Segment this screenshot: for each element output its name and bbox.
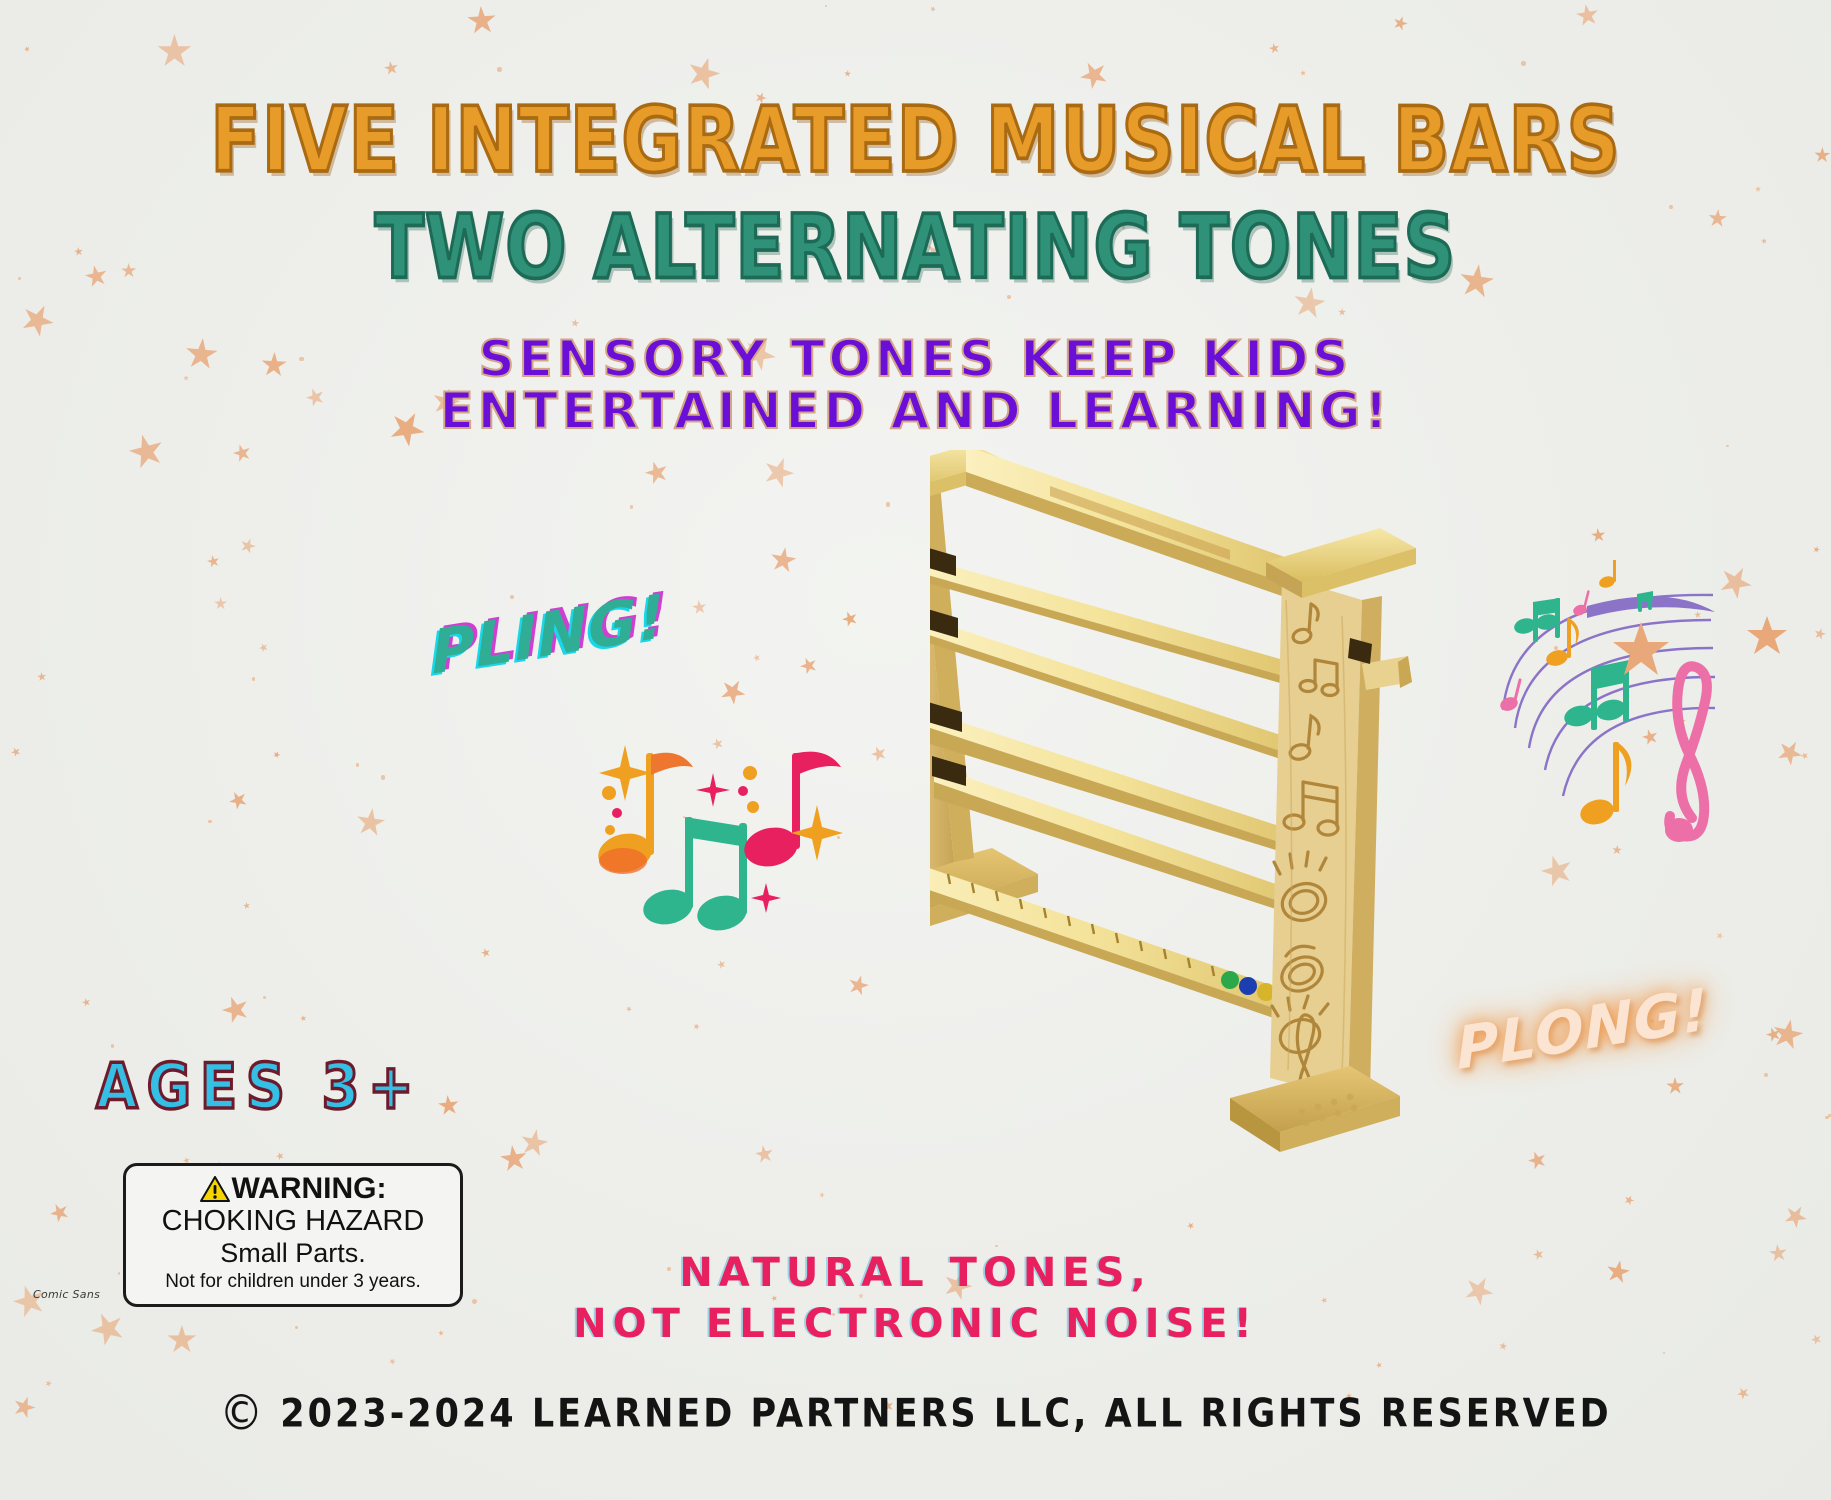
decorative-star-dot xyxy=(1825,1116,1828,1119)
decorative-star xyxy=(275,1151,285,1161)
left-post xyxy=(930,478,974,874)
decorative-star xyxy=(839,609,859,629)
decorative-star xyxy=(1779,1200,1811,1232)
decorative-star xyxy=(759,452,799,492)
decorative-star-dot xyxy=(510,595,514,599)
decorative-star-dot xyxy=(1521,61,1525,65)
decorative-star xyxy=(625,1005,633,1013)
choking-hazard-warning-label: WARNING: CHOKING HAZARD Small Parts. Not… xyxy=(123,1163,463,1307)
decorative-star-dot xyxy=(1726,445,1728,447)
decorative-star xyxy=(692,1022,701,1031)
decorative-star xyxy=(383,60,400,77)
decorative-star xyxy=(752,652,762,662)
decorative-star-dot xyxy=(208,820,212,824)
decorative-star xyxy=(1813,546,1822,555)
decorative-star xyxy=(24,45,32,53)
decorative-star-dot xyxy=(497,67,502,72)
decorative-star xyxy=(242,902,250,910)
warning-hazard-text: CHOKING HAZARD xyxy=(136,1205,450,1238)
decorative-star xyxy=(1375,1361,1383,1369)
decorative-star-dot xyxy=(886,502,891,507)
decorative-star xyxy=(1574,2,1600,28)
decorative-star xyxy=(1526,1149,1550,1173)
decorative-star xyxy=(354,806,387,839)
decorative-star xyxy=(44,1379,53,1388)
decorative-star-dot xyxy=(1764,1073,1768,1077)
decorative-star-dot xyxy=(825,5,827,7)
decorative-star xyxy=(206,554,221,569)
decorative-star xyxy=(1769,1016,1806,1053)
decorative-star xyxy=(570,319,580,329)
decorative-star xyxy=(797,654,820,677)
decorative-star-dot xyxy=(381,775,386,780)
decorative-star xyxy=(214,597,227,610)
decorative-star xyxy=(1812,626,1827,641)
decorative-star-dot xyxy=(111,1044,115,1048)
decorative-star xyxy=(299,1014,307,1022)
right-foot xyxy=(1230,1066,1400,1152)
tagline-line-2: NOT ELECTRONIC NOISE! xyxy=(0,1299,1831,1350)
decorative-star xyxy=(754,1144,776,1166)
decorative-star xyxy=(1299,69,1306,76)
copyright-symbol: © xyxy=(219,1389,266,1438)
decorative-star xyxy=(869,744,889,764)
copyright-text: 2023-2024 LEARNED PARTNERS LLC, ALL RIGH… xyxy=(280,1392,1611,1437)
decorative-star xyxy=(845,973,871,999)
decorative-star xyxy=(226,787,251,812)
decorative-star xyxy=(258,642,270,654)
decorative-star-dot xyxy=(252,677,255,680)
music-staff-swirl xyxy=(1495,560,1795,860)
decorative-star xyxy=(1800,751,1810,761)
decorative-star xyxy=(691,599,707,615)
decorative-star xyxy=(1764,1025,1783,1044)
warning-title-row: WARNING: xyxy=(136,1174,450,1204)
subheadline-line-1: SENSORY TONES KEEP KIDS xyxy=(0,330,1831,388)
decorative-star xyxy=(480,947,492,959)
product-image-musical-marble-run xyxy=(930,450,1490,1190)
decorative-star xyxy=(517,1126,550,1159)
decorative-star xyxy=(437,1094,460,1117)
decorative-star xyxy=(36,671,47,682)
decorative-star-dot xyxy=(356,763,359,766)
decorative-star xyxy=(1666,1076,1685,1095)
top-cap-right xyxy=(1266,528,1416,598)
decorative-star xyxy=(1338,308,1346,316)
decorative-star xyxy=(768,545,798,575)
decorative-star xyxy=(46,1200,72,1226)
decorative-star xyxy=(466,5,497,36)
sound-effect-plong: PLONG! xyxy=(1455,975,1711,1083)
decorative-star xyxy=(272,750,282,760)
warning-parts-text: Small Parts. xyxy=(136,1238,450,1269)
decorative-star-dot xyxy=(263,996,267,1000)
decorative-star xyxy=(929,5,937,13)
decorative-star xyxy=(9,745,22,758)
warning-title: WARNING: xyxy=(232,1174,387,1204)
decorative-star xyxy=(157,33,192,68)
music-notes-cluster xyxy=(585,735,855,965)
subheadline-line-2: ENTERTAINED AND LEARNING! xyxy=(0,382,1831,440)
decorative-star xyxy=(1185,1220,1195,1230)
font-note-label: Comic Sans xyxy=(33,1288,100,1301)
decorative-star xyxy=(1590,528,1606,544)
ages-badge: AGES 3+ xyxy=(96,1050,423,1122)
copyright-line: © 2023-2024 LEARNED PARTNERS LLC, ALL RI… xyxy=(0,1389,1831,1438)
decorative-star xyxy=(716,674,751,709)
warning-triangle-icon xyxy=(200,1176,230,1203)
headline-line-2: TWO ALTERNATING TONES xyxy=(0,196,1831,298)
headline-line-1: FIVE INTEGRATED MUSICAL BARS xyxy=(0,88,1831,193)
musical-bars xyxy=(930,546,1332,1038)
decorative-star xyxy=(81,997,92,1008)
decorative-star-dot xyxy=(630,505,633,508)
decorative-star xyxy=(498,1143,529,1174)
decorative-star-dot xyxy=(1663,1352,1666,1355)
decorative-star xyxy=(844,69,852,77)
decorative-star xyxy=(1391,14,1410,33)
sound-effect-pling: PLING! xyxy=(430,581,668,688)
decorative-star xyxy=(1622,1193,1636,1207)
decorative-star xyxy=(1715,931,1725,941)
decorative-star xyxy=(238,535,258,555)
poster-canvas: FIVE INTEGRATED MUSICAL BARS TWO ALTERNA… xyxy=(0,0,1831,1500)
decorative-star xyxy=(218,992,253,1027)
decorative-star xyxy=(388,1357,397,1366)
decorative-star xyxy=(231,442,254,465)
decorative-star xyxy=(642,458,671,487)
decorative-star xyxy=(819,1192,826,1199)
decorative-star-dot xyxy=(995,1245,998,1248)
warning-age-text: Not for children under 3 years. xyxy=(136,1271,450,1294)
decorative-star xyxy=(1268,42,1281,55)
